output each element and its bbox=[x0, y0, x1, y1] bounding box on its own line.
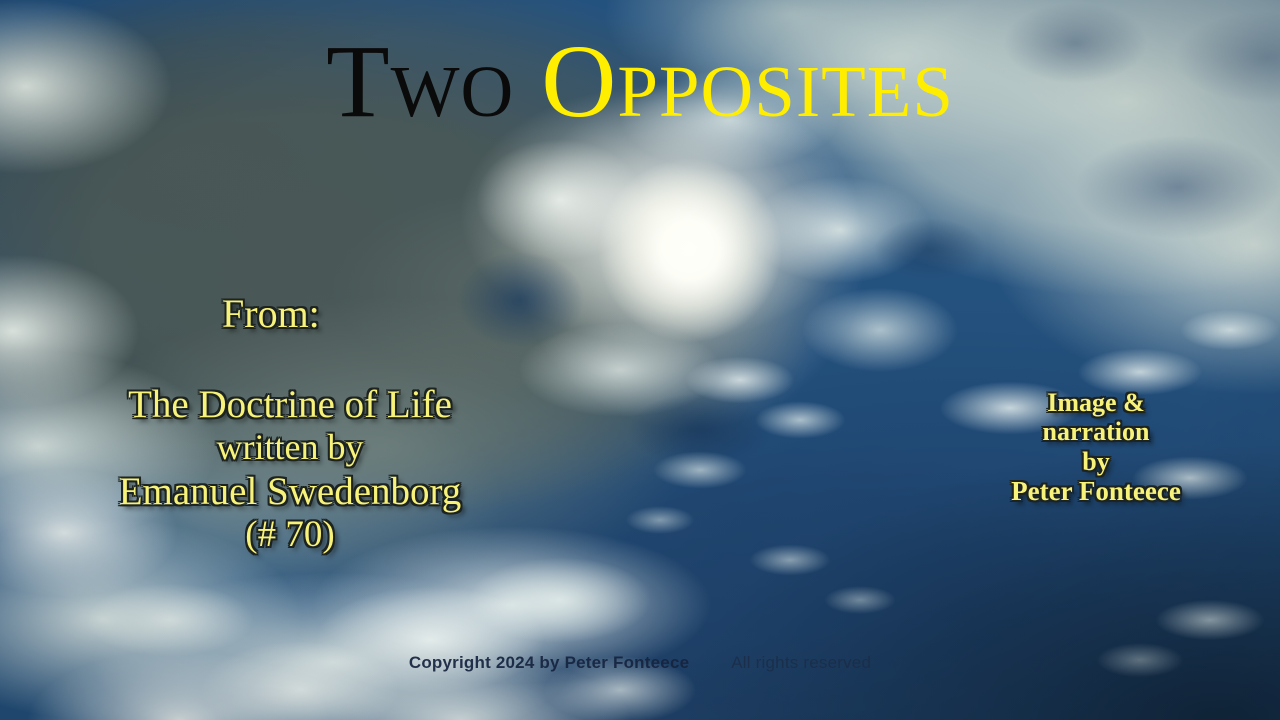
source-work-title: The Doctrine of Life bbox=[60, 382, 520, 427]
source-author: Emanuel Swedenborg bbox=[60, 469, 520, 514]
slide-title: Two Opposites bbox=[0, 22, 1280, 142]
credit-block: Image & narration by Peter Fonteece bbox=[960, 388, 1232, 507]
copyright-bar: Copyright 2024 by Peter FonteeceAll righ… bbox=[0, 653, 1280, 673]
title-slide: Two Opposites From: The Doctrine of Life… bbox=[0, 0, 1280, 720]
from-label: From: bbox=[222, 293, 320, 335]
source-written-by-label: written by bbox=[60, 427, 520, 469]
source-attribution-block: The Doctrine of Life written by Emanuel … bbox=[60, 382, 520, 557]
copyright-notice: Copyright 2024 by Peter Fonteece bbox=[409, 653, 689, 672]
credit-line-narration: narration bbox=[960, 417, 1232, 446]
credit-line-author-name: Peter Fonteece bbox=[960, 476, 1232, 507]
title-word-opposites: Opposites bbox=[541, 24, 954, 139]
credit-line-by: by bbox=[960, 447, 1232, 476]
title-word-two: Two bbox=[326, 24, 514, 139]
rights-reserved-notice: All rights reserved bbox=[731, 653, 871, 672]
credit-line-image-and: Image & bbox=[960, 388, 1232, 417]
source-section-number: (# 70) bbox=[60, 514, 520, 557]
